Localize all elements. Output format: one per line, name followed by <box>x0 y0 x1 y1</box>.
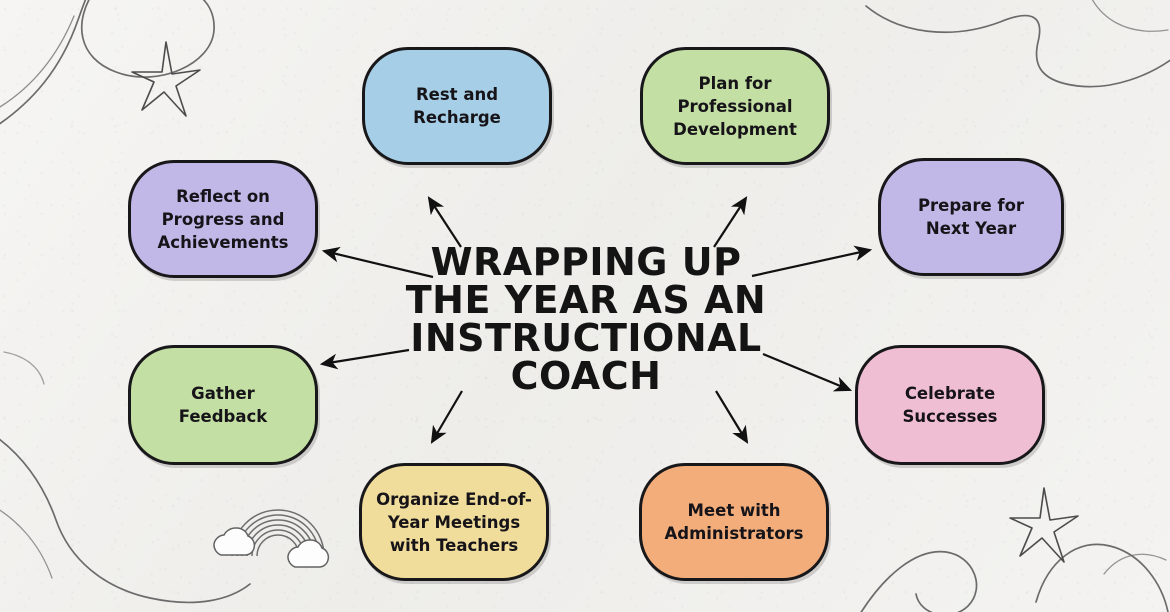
arrow-to-meet-with-administrators <box>716 391 747 442</box>
node-prepare-for-next-year[interactable]: Prepare for Next Year <box>878 158 1064 276</box>
node-label: Organize End-of-Year Meetings with Teach… <box>376 488 532 557</box>
node-celebrate-successes[interactable]: Celebrate Successes <box>855 345 1045 465</box>
node-reflect-on-progress-and-achievements[interactable]: Reflect on Progress and Achievements <box>128 160 318 278</box>
node-label: Rest and Recharge <box>379 83 535 129</box>
node-organize-end-of-year-meetings-with-teachers[interactable]: Organize End-of-Year Meetings with Teach… <box>359 463 549 581</box>
mindmap-canvas: WRAPPING UP THE YEAR AS AN INSTRUCTIONAL… <box>0 0 1170 612</box>
node-label: Meet with Administrators <box>665 499 804 545</box>
star-doodle-icon <box>132 42 200 116</box>
node-rest-and-recharge[interactable]: Rest and Recharge <box>362 47 552 165</box>
node-meet-with-administrators[interactable]: Meet with Administrators <box>639 463 829 581</box>
node-label: Prepare for Next Year <box>918 194 1024 240</box>
cloud-doodle-icon <box>214 528 328 567</box>
arrow-to-celebrate-successes <box>763 354 850 390</box>
rainbow-with-clouds-doodle-icon <box>232 510 324 556</box>
center-title: WRAPPING UP THE YEAR AS AN INSTRUCTIONAL… <box>398 243 774 395</box>
star-doodle-icon <box>1010 488 1078 562</box>
squiggle-top-right-icon <box>866 6 1170 87</box>
node-label: Celebrate Successes <box>902 382 997 428</box>
node-gather-feedback[interactable]: Gather Feedback <box>128 345 318 465</box>
node-label: Plan for Professional Development <box>673 72 797 141</box>
squiggle-top-left-icon <box>82 0 214 77</box>
node-label: Gather Feedback <box>145 382 301 428</box>
arrow-to-organize-end-of-year-meetings <box>432 391 462 442</box>
squiggle-bottom-right-icon <box>860 552 977 612</box>
node-plan-for-professional-development[interactable]: Plan for Professional Development <box>640 47 830 165</box>
node-label: Reflect on Progress and Achievements <box>158 185 289 254</box>
arrow-to-gather-feedback <box>322 350 409 364</box>
